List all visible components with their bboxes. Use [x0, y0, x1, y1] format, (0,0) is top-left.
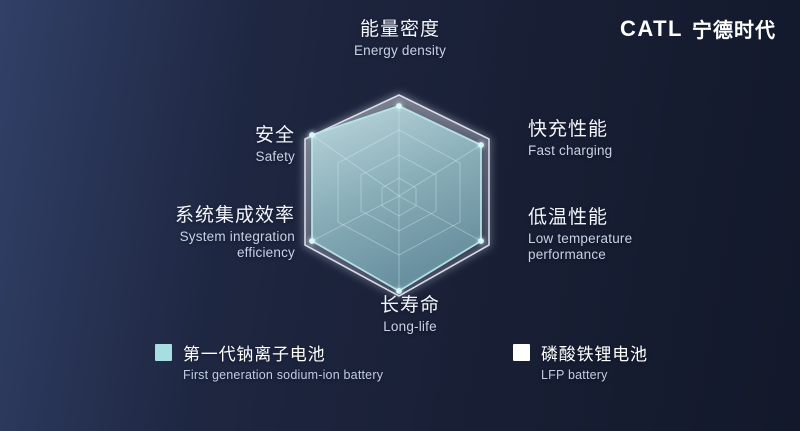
legend-label-lfp-cn: 磷酸铁锂电池 [541, 340, 648, 365]
axis-label-low-temperature-cn: 低温性能 [528, 206, 708, 228]
axis-label-long-life-en: Long-life [300, 319, 520, 335]
legend-item-lfp: 磷酸铁锂电池 LFP battery [513, 340, 648, 382]
axis-label-safety-en: Safety [135, 149, 295, 165]
axis-label-low-temperature-en-line2: performance [528, 247, 708, 263]
legend-item-sodium-ion: 第一代钠离子电池 First generation sodium-ion bat… [155, 340, 383, 382]
legend-label-sodium-ion-cn: 第一代钠离子电池 [183, 340, 325, 365]
catl-logo: CATL 宁德时代 [620, 14, 776, 43]
axis-label-fast-charging-cn: 快充性能 [528, 118, 698, 140]
axis-label-system-integration-en-line1: System integration [95, 229, 295, 245]
legend-swatch-sodium-ion [155, 344, 172, 361]
axis-label-fast-charging-en: Fast charging [528, 143, 698, 159]
axis-label-system-integration-cn: 系统集成效率 [95, 204, 295, 226]
legend-swatch-lfp [513, 344, 530, 361]
legend-label-sodium-ion-en: First generation sodium-ion battery [183, 368, 383, 382]
axis-label-fast-charging: 快充性能 Fast charging [528, 118, 698, 159]
axis-label-long-life-cn: 长寿命 [300, 294, 520, 316]
axis-label-energy-density-cn: 能量密度 [260, 18, 540, 40]
axis-label-system-integration: 系统集成效率 System integration efficiency [95, 204, 295, 261]
axis-label-energy-density-en: Energy density [260, 43, 540, 59]
catl-wordmark: CATL [620, 16, 683, 42]
axis-label-system-integration-en-line2: efficiency [95, 245, 295, 261]
axis-label-safety-cn: 安全 [135, 124, 295, 146]
axis-label-low-temperature: 低温性能 Low temperature performance [528, 206, 708, 263]
axis-label-energy-density: 能量密度 Energy density [260, 18, 540, 59]
axis-label-safety: 安全 Safety [135, 124, 295, 165]
catl-chinese-name: 宁德时代 [692, 14, 776, 43]
legend-label-lfp-en: LFP battery [541, 368, 648, 382]
slide-canvas: CATL 宁德时代 能量密度 Energy density 快充性能 Fast … [0, 0, 800, 431]
axis-label-long-life: 长寿命 Long-life [300, 294, 520, 335]
axis-label-low-temperature-en-line1: Low temperature [528, 231, 708, 247]
